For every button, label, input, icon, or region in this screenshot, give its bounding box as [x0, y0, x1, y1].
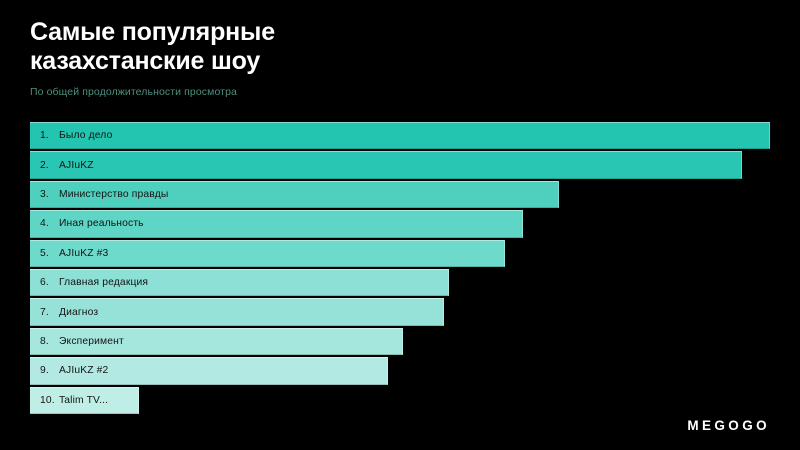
bar — [30, 269, 449, 296]
horizontal-bar-chart: 1.Было дело2.AJIuKZ3.Министерство правды… — [30, 121, 770, 415]
bar-row[interactable]: 6.Главная редакция — [30, 268, 770, 297]
megogo-logo: MEGOGO — [687, 418, 770, 433]
bar-row[interactable]: 3.Министерство правды — [30, 180, 770, 209]
page-subtitle: По общей продолжительности просмотра — [30, 86, 650, 98]
page-title: Самые популярные казахстанские шоу — [30, 18, 650, 76]
bar — [30, 328, 403, 355]
bar-row[interactable]: 7.Диагноз — [30, 297, 770, 326]
bar — [30, 387, 139, 414]
bar — [30, 151, 742, 178]
header: Самые популярные казахстанские шоу По об… — [30, 18, 650, 98]
bar-row[interactable]: 10.Talim TV... — [30, 386, 770, 415]
bar — [30, 210, 523, 237]
bar-row[interactable]: 5.AJIuKZ #3 — [30, 239, 770, 268]
bar-row[interactable]: 1.Было дело — [30, 121, 770, 150]
bar-row[interactable]: 2.AJIuKZ — [30, 150, 770, 179]
slide-canvas: Самые популярные казахстанские шоу По об… — [0, 0, 800, 450]
bar — [30, 181, 559, 208]
bar-row[interactable]: 9.AJIuKZ #2 — [30, 356, 770, 385]
bar — [30, 122, 770, 149]
bar-row[interactable]: 4.Иная реальность — [30, 209, 770, 238]
bar-row[interactable]: 8.Эксперимент — [30, 327, 770, 356]
bar — [30, 357, 388, 384]
bar — [30, 298, 444, 325]
bar — [30, 240, 505, 267]
